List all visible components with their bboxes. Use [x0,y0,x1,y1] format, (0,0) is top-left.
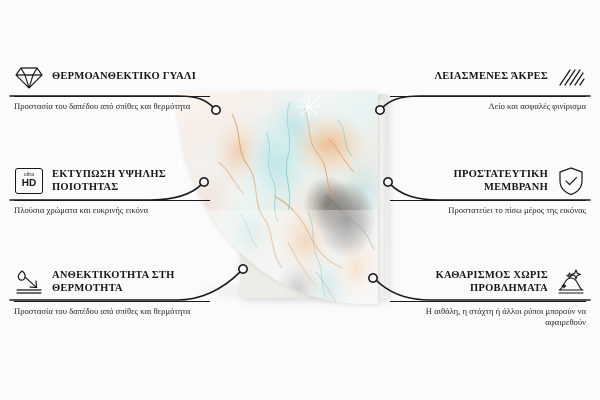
feature-header: ultra HD ΕΚΤΥΠΩΣΗ ΥΨΗΛΗΣ ΠΟΙΟΤΗΤΑΣ [14,166,210,196]
feature-description: Προστασία του δαπέδου από σπίθες και θερ… [14,306,210,317]
sparkle-surface-icon [556,267,586,297]
diamond-icon [14,62,44,92]
feature-heat-resistant-glass: ΘΕΡΜΟΑΝΘΕΚΤΙΚΟ ΓΥΑΛΙ Προστασία του δαπέδ… [14,62,210,112]
feature-divider [14,96,210,97]
feature-divider [390,200,586,201]
feature-header: ΚΑΘΑΡΙΣΜΟΣ ΧΩΡΙΣ ΠΡΟΒΛΗΜΑΤΑ [390,267,586,297]
feature-title: ΘΕΡΜΟΑΝΘΕΚΤΙΚΟ ΓΥΑΛΙ [52,70,196,84]
infographic-canvas: ΘΕΡΜΟΑΝΘΕΚΤΙΚΟ ΓΥΑΛΙ Προστασία του δαπέδ… [0,0,600,400]
feature-description: Λείο και ασφαλές φινίρισμα [390,101,586,112]
feature-header: ΛΕΙΑΣΜΕΝΕΣ ΆΚΡΕΣ [390,62,586,92]
diagonal-lines-icon [556,62,586,92]
feature-header: ΘΕΡΜΟΑΝΘΕΚΤΙΚΟ ΓΥΑΛΙ [14,62,210,92]
feature-heat-durability: ΑΝΘΕΚΤΙΚΟΤΗΤΑ ΣΤΗ ΘΕΡΜΟΤΗΤΑ Προστασία το… [14,267,210,317]
flame-deflect-icon [14,267,44,297]
feature-divider [390,96,586,97]
feature-header: ΠΡΟΣΤΑΤΕΥΤΙΚΗ ΜΕΜΒΡΑΝΗ [390,166,586,196]
feature-high-quality-print: ultra HD ΕΚΤΥΠΩΣΗ ΥΨΗΛΗΣ ΠΟΙΟΤΗΤΑΣ Πλούσ… [14,166,210,216]
feature-divider [390,301,586,302]
feature-divider [14,301,210,302]
glass-glint-icon [294,94,324,120]
feature-title: ΠΡΟΣΤΑΤΕΥΤΙΚΗ ΜΕΜΒΡΑΝΗ [390,168,548,195]
ultra-hd-icon: ultra HD [14,166,44,196]
feature-description: Προστατεύει το πίσω μέρος της εικόνας [390,205,586,216]
product-image [178,92,413,310]
shield-check-icon [556,166,586,196]
feature-description: Η αιθάλη, η στάχτη ή άλλοι ρύποι μπορούν… [390,306,586,329]
feature-title: ΛΕΙΑΣΜΕΝΕΣ ΆΚΡΕΣ [434,70,548,84]
feature-easy-cleaning: ΚΑΘΑΡΙΣΜΟΣ ΧΩΡΙΣ ΠΡΟΒΛΗΜΑΤΑ Η αιθάλη, η … [390,267,586,329]
feature-header: ΑΝΘΕΚΤΙΚΟΤΗΤΑ ΣΤΗ ΘΕΡΜΟΤΗΤΑ [14,267,210,297]
feature-title: ΑΝΘΕΚΤΙΚΟΤΗΤΑ ΣΤΗ ΘΕΡΜΟΤΗΤΑ [52,269,210,296]
feature-description: Πλούσια χρώματα και ευκρινής εικόνα [14,205,210,216]
feature-smoothed-edges: ΛΕΙΑΣΜΕΝΕΣ ΆΚΡΕΣ Λείο και ασφαλές φινίρι… [390,62,586,112]
feature-divider [14,200,210,201]
ultra-hd-large-label: HD [22,179,36,189]
feature-protective-membrane: ΠΡΟΣΤΑΤΕΥΤΙΚΗ ΜΕΜΒΡΑΝΗ Προστατεύει το πί… [390,166,586,216]
feature-description: Προστασία του δαπέδου από σπίθες και θερ… [14,101,210,112]
feature-title: ΕΚΤΥΠΩΣΗ ΥΨΗΛΗΣ ΠΟΙΟΤΗΤΑΣ [52,168,210,195]
feature-title: ΚΑΘΑΡΙΣΜΟΣ ΧΩΡΙΣ ΠΡΟΒΛΗΜΑΤΑ [390,269,548,296]
